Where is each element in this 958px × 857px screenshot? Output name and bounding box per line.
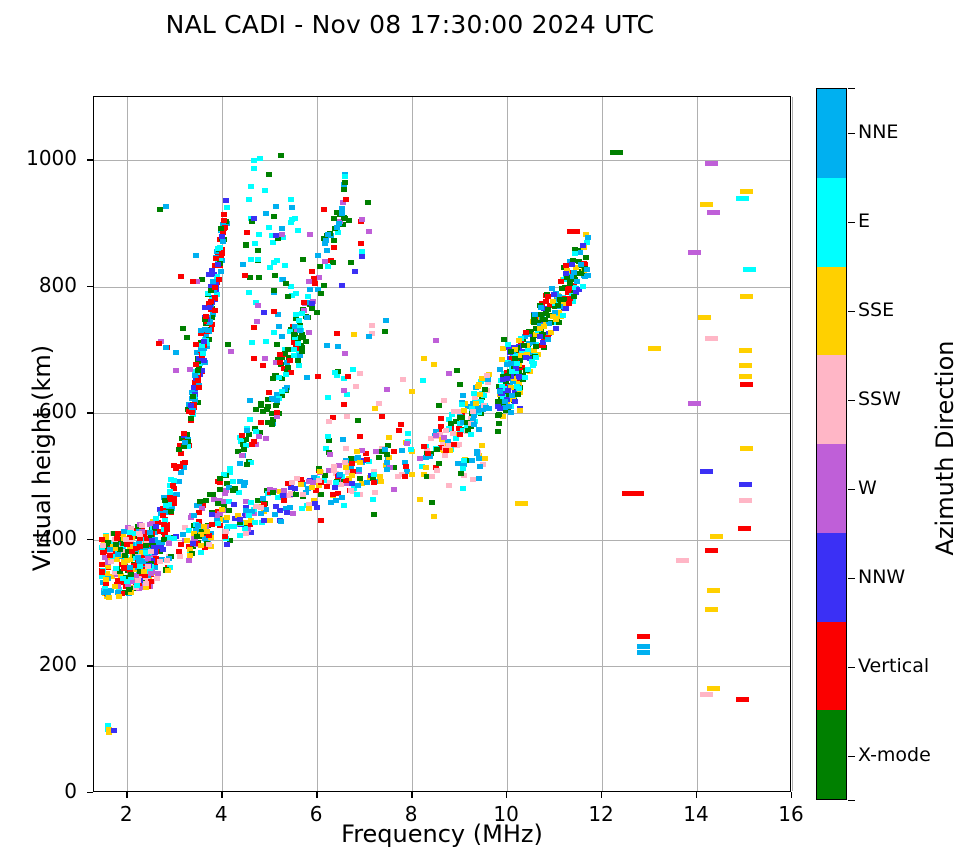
echo-marker (103, 577, 109, 582)
echo-marker (637, 650, 650, 655)
echo-marker (574, 279, 580, 284)
echo-marker (409, 472, 415, 477)
echo-marker (325, 395, 331, 400)
echo-marker (293, 492, 299, 497)
echo-marker (255, 303, 261, 308)
echo-marker (371, 480, 377, 485)
x-tick (506, 792, 507, 798)
echo-marker (372, 490, 378, 495)
echo-marker (408, 447, 414, 452)
echo-marker (247, 398, 253, 403)
echo-marker (342, 460, 348, 465)
x-tick (791, 792, 792, 798)
echo-marker (324, 484, 330, 489)
echo-marker (396, 428, 402, 433)
echo-marker (299, 506, 305, 511)
echo-marker (580, 284, 586, 289)
echo-marker (168, 509, 174, 514)
echo-marker (231, 524, 237, 529)
echo-marker (266, 225, 272, 230)
echo-marker (571, 270, 577, 275)
colorbar-tick (848, 667, 855, 668)
echo-marker (443, 448, 449, 453)
echo-marker (698, 315, 711, 320)
echo-marker (326, 419, 332, 424)
echo-marker (585, 273, 591, 278)
echo-marker (194, 534, 200, 539)
echo-marker (371, 512, 377, 517)
echo-marker (331, 464, 337, 469)
echo-marker (514, 384, 520, 389)
echo-marker (291, 347, 297, 352)
echo-marker (282, 263, 288, 268)
echo-marker (705, 161, 718, 166)
echo-marker (571, 294, 577, 299)
echo-marker (738, 526, 751, 531)
echo-marker (580, 243, 586, 248)
echo-marker (736, 697, 749, 702)
echo-marker (307, 232, 313, 237)
echo-marker (263, 339, 269, 344)
echo-marker (469, 458, 475, 463)
echo-marker (260, 363, 266, 368)
echo-marker (258, 420, 264, 425)
echo-marker (300, 257, 306, 262)
echo-marker (139, 523, 145, 528)
echo-marker (248, 500, 254, 505)
echo-marker (318, 518, 324, 523)
echo-marker (163, 503, 169, 508)
echo-marker (438, 416, 444, 421)
echo-marker (283, 372, 289, 377)
echo-marker (648, 346, 661, 351)
echo-marker (340, 437, 346, 442)
echo-marker (190, 279, 196, 284)
echo-marker (369, 323, 375, 328)
echo-marker (241, 447, 247, 452)
echo-marker (457, 382, 463, 387)
y-tick-label: 800 (7, 273, 77, 297)
echo-marker (516, 374, 522, 379)
echo-marker (291, 353, 297, 358)
echo-marker (339, 495, 345, 500)
echo-marker (364, 480, 370, 485)
echo-marker (567, 229, 580, 234)
echo-marker (271, 330, 277, 335)
echo-marker (512, 399, 518, 404)
echo-marker (251, 356, 257, 361)
echo-marker (366, 334, 372, 339)
echo-marker (357, 371, 363, 376)
echo-marker (218, 226, 224, 231)
echo-marker (565, 287, 571, 292)
echo-marker (113, 542, 119, 547)
echo-marker (739, 348, 752, 353)
y-tick (87, 159, 93, 160)
echo-marker (164, 558, 170, 563)
echo-marker (274, 342, 280, 347)
echo-marker (296, 363, 302, 368)
echo-marker (271, 288, 277, 293)
echo-marker (300, 492, 306, 497)
x-tick (221, 792, 222, 798)
colorbar-title: Azimuth Direction (931, 298, 958, 598)
echo-marker (157, 559, 163, 564)
y-tick-label: 0 (7, 779, 77, 803)
echo-marker (186, 558, 192, 563)
echo-marker (434, 447, 440, 452)
echo-marker (370, 497, 376, 502)
echo-marker (248, 257, 254, 262)
echo-marker (457, 432, 463, 437)
echo-marker (212, 308, 218, 313)
echo-marker (502, 399, 508, 404)
echo-marker (243, 242, 249, 247)
echo-marker (267, 518, 273, 523)
echo-marker (243, 531, 249, 536)
echo-marker (269, 396, 275, 401)
echo-marker (256, 232, 262, 237)
colorbar-segment-w[interactable] (817, 444, 846, 533)
echo-marker (355, 483, 361, 488)
echo-marker (178, 542, 184, 547)
colorbar-label-ssw: SSW (858, 388, 901, 410)
echo-marker (400, 377, 406, 382)
echo-marker (263, 211, 269, 216)
echo-marker (386, 435, 392, 440)
echo-marker (325, 434, 331, 439)
echo-marker (345, 374, 351, 379)
echo-marker (134, 583, 140, 588)
echo-marker (433, 433, 439, 438)
echo-marker (279, 232, 285, 237)
colorbar-segment-x-mode[interactable] (817, 710, 846, 799)
echo-marker (496, 412, 502, 417)
echo-marker (358, 241, 364, 246)
echo-marker (376, 401, 382, 406)
echo-marker (126, 587, 132, 592)
echo-marker (272, 273, 278, 278)
echo-marker (215, 521, 221, 526)
echo-marker (740, 446, 753, 451)
echo-marker (441, 435, 447, 440)
echo-marker (143, 581, 149, 586)
y-tick (87, 412, 93, 413)
echo-marker (431, 514, 437, 519)
echo-marker (335, 344, 341, 349)
echo-marker (217, 476, 223, 481)
echo-marker (189, 410, 195, 415)
colorbar-tick (848, 578, 855, 579)
echo-marker (458, 471, 464, 476)
echo-marker (316, 275, 322, 280)
echo-marker (318, 291, 324, 296)
echo-marker (333, 480, 339, 485)
colorbar-segment-nnw[interactable] (817, 533, 846, 622)
echo-marker (218, 269, 224, 274)
echo-marker (121, 529, 127, 534)
echo-marker (115, 552, 121, 557)
ionogram-plot-area[interactable] (93, 96, 791, 792)
gridline-vertical (412, 97, 413, 791)
echo-marker (322, 241, 328, 246)
echo-marker (341, 388, 347, 393)
x-axis-label: Frequency (MHz) (93, 820, 791, 848)
echo-marker (157, 207, 163, 212)
colorbar-segment-e[interactable] (817, 178, 846, 267)
chart-title: NAL CADI - Nov 08 17:30:00 2024 UTC (0, 10, 820, 39)
gridline-vertical (127, 97, 128, 791)
echo-marker (553, 326, 559, 331)
echo-marker (739, 363, 752, 368)
y-tick (87, 539, 93, 540)
echo-marker (113, 566, 119, 571)
echo-marker (112, 584, 118, 589)
echo-marker (459, 402, 465, 407)
echo-marker (443, 428, 449, 433)
echo-marker (553, 317, 559, 322)
echo-marker (566, 301, 572, 306)
echo-marker (530, 337, 536, 342)
echo-marker (201, 524, 207, 529)
echo-marker (688, 401, 701, 406)
echo-marker (124, 542, 130, 547)
echo-marker (479, 443, 485, 448)
echo-marker (382, 447, 388, 452)
echo-marker (339, 211, 345, 216)
echo-marker (349, 473, 355, 478)
echo-marker (193, 342, 199, 347)
echo-marker (296, 318, 302, 323)
echo-marker (306, 279, 312, 284)
echo-marker (460, 486, 466, 491)
echo-marker (293, 291, 299, 296)
echo-marker (299, 311, 305, 316)
echo-marker (342, 180, 348, 185)
echo-marker (258, 401, 264, 406)
echo-marker (243, 508, 249, 513)
echo-marker (533, 344, 539, 349)
echo-marker (384, 467, 390, 472)
colorbar-segment-sse[interactable] (817, 267, 846, 356)
y-tick (87, 792, 93, 793)
echo-marker (206, 533, 212, 538)
echo-marker (482, 456, 488, 461)
echo-marker (149, 538, 155, 543)
echo-marker (266, 390, 272, 395)
echo-marker (541, 324, 547, 329)
echo-marker (417, 456, 423, 461)
x-tick (601, 792, 602, 798)
echo-marker (115, 531, 121, 536)
echo-marker (332, 370, 338, 375)
echo-marker (298, 482, 304, 487)
echo-marker (522, 375, 528, 380)
echo-marker (196, 510, 202, 515)
echo-marker (251, 166, 257, 171)
echo-marker (261, 310, 267, 315)
colorbar-label-e: E (858, 210, 870, 232)
echo-marker (206, 542, 212, 547)
echo-marker (441, 398, 447, 403)
echo-marker (514, 361, 520, 366)
echo-marker (167, 495, 173, 500)
echo-marker (306, 506, 312, 511)
echo-marker (700, 469, 713, 474)
echo-marker (736, 196, 749, 201)
echo-marker (187, 367, 193, 372)
echo-marker (471, 391, 477, 396)
echo-marker (99, 537, 105, 542)
echo-marker (562, 306, 568, 311)
echo-marker (743, 267, 756, 272)
echo-marker (279, 389, 285, 394)
echo-marker (572, 251, 578, 256)
echo-marker (321, 283, 327, 288)
echo-marker (135, 578, 141, 583)
echo-marker (324, 343, 330, 348)
echo-marker (325, 264, 331, 269)
colorbar-bound-tick (848, 88, 855, 89)
echo-marker (545, 337, 551, 342)
echo-marker (248, 184, 254, 189)
echo-marker (285, 347, 291, 352)
x-tick (316, 792, 317, 798)
echo-marker (297, 328, 303, 333)
echo-marker (404, 441, 410, 446)
colorbar-label-x-mode: X-mode (858, 744, 931, 766)
echo-marker (190, 541, 196, 546)
echo-marker (290, 511, 296, 516)
echo-marker (578, 271, 584, 276)
echo-marker (127, 565, 133, 570)
echo-marker (173, 350, 179, 355)
echo-marker (482, 387, 488, 392)
echo-marker (637, 644, 650, 649)
echo-marker (178, 274, 184, 279)
echo-marker (563, 263, 569, 268)
echo-marker (707, 588, 720, 593)
echo-marker (344, 414, 350, 419)
echo-marker (339, 283, 345, 288)
echo-marker (136, 531, 142, 536)
echo-marker (525, 347, 531, 352)
echo-marker (257, 156, 263, 161)
echo-marker (420, 378, 426, 383)
echo-marker (529, 359, 535, 364)
echo-marker (155, 571, 161, 576)
echo-marker (256, 275, 262, 280)
echo-marker (260, 496, 266, 501)
echo-marker (476, 427, 482, 432)
echo-marker (352, 269, 358, 274)
echo-marker (376, 455, 382, 460)
echo-marker (560, 313, 566, 318)
echo-marker (341, 187, 347, 192)
gridline-vertical (602, 97, 603, 791)
echo-marker (355, 418, 361, 423)
echo-marker (171, 463, 177, 468)
echo-marker (316, 478, 322, 483)
echo-marker (99, 569, 105, 574)
echo-marker (273, 504, 279, 509)
gridline-vertical (792, 97, 793, 791)
gridline-horizontal (94, 287, 790, 288)
echo-marker (266, 172, 272, 177)
echo-marker (122, 553, 128, 558)
colorbar-segment-ssw[interactable] (817, 355, 846, 444)
echo-marker (343, 197, 349, 202)
echo-marker (459, 415, 465, 420)
echo-marker (228, 349, 234, 354)
echo-marker (287, 358, 293, 363)
colorbar-segment-nne[interactable] (817, 89, 846, 178)
echo-marker (116, 594, 122, 599)
echo-marker (317, 469, 323, 474)
colorbar-tick (848, 222, 855, 223)
echo-marker (508, 410, 514, 415)
echo-marker (508, 349, 514, 354)
echo-marker (372, 406, 378, 411)
echo-marker (265, 420, 271, 425)
colorbar-bound-tick (848, 800, 855, 801)
echo-marker (301, 300, 307, 305)
echo-marker (324, 248, 330, 253)
echo-marker (283, 281, 289, 286)
echo-marker (252, 520, 258, 525)
echo-marker (637, 634, 650, 639)
echo-marker (688, 250, 701, 255)
echo-marker (215, 262, 221, 267)
echo-marker (417, 497, 423, 502)
echo-marker (281, 498, 287, 503)
echo-marker (402, 474, 408, 479)
echo-marker (181, 431, 187, 436)
echo-marker (188, 416, 194, 421)
echo-marker (450, 431, 456, 436)
echo-marker (504, 376, 510, 381)
echo-marker (276, 375, 282, 380)
echo-marker (107, 547, 113, 552)
echo-marker (191, 513, 197, 518)
echo-marker (227, 466, 233, 471)
echo-marker (331, 245, 337, 250)
colorbar-segment-vertical[interactable] (817, 622, 846, 711)
echo-marker (354, 449, 360, 454)
echo-marker (382, 329, 388, 334)
echo-marker (244, 230, 250, 235)
azimuth-colorbar[interactable] (816, 88, 847, 800)
echo-marker (160, 513, 166, 518)
echo-marker (291, 332, 297, 337)
echo-marker (405, 431, 411, 436)
echo-marker (237, 517, 243, 522)
echo-marker (270, 490, 276, 495)
echo-marker (224, 515, 230, 520)
echo-marker (148, 549, 154, 554)
echo-marker (262, 188, 268, 193)
echo-marker (700, 202, 713, 207)
echo-marker (341, 215, 347, 220)
echo-marker (395, 474, 401, 479)
y-axis-label: Virtual height (km) (28, 308, 56, 608)
echo-marker (244, 428, 250, 433)
echo-marker (306, 330, 312, 335)
gridline-horizontal (94, 413, 790, 414)
colorbar-tick (848, 311, 855, 312)
echo-marker (99, 562, 105, 567)
echo-marker (276, 324, 282, 329)
